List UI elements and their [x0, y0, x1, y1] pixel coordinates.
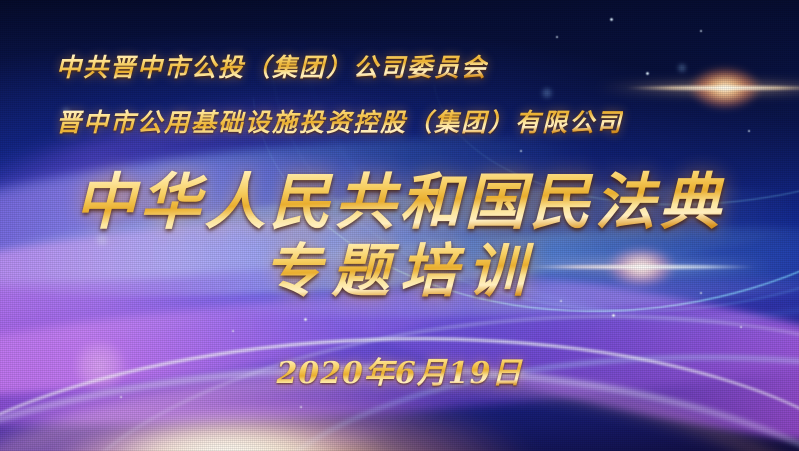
organization-line-1-text: 中共晋中市公投（集团）公司委员会: [56, 53, 488, 82]
sparkle: [740, 326, 742, 328]
flare-outer-streak: [595, 82, 799, 94]
amber-glow-core: [60, 408, 390, 451]
main-title-line-1: 中华人民共和国民法典: [0, 172, 799, 233]
organization-line-1: 中共晋中市公投（集团）公司委员会: [56, 48, 488, 84]
date-line: 2020年6月19日: [0, 348, 799, 392]
flare-streak: [625, 86, 799, 90]
sparkle: [520, 150, 522, 152]
sparkle: [612, 314, 615, 317]
sparkle: [646, 72, 649, 75]
sparkle: [300, 406, 302, 408]
organization-line-2-text: 晋中市公用基础设施投资控股（集团）有限公司: [56, 108, 623, 137]
sparkle: [120, 396, 122, 398]
main-title-line-2-text: 专题培训: [263, 237, 535, 305]
sparkle: [232, 330, 234, 332]
sparkle: [560, 300, 562, 302]
main-title-line-1-text: 中华人民共和国民法典: [74, 167, 724, 238]
bokeh-dot: [676, 62, 688, 74]
lens-flare-top-right: [640, 52, 799, 124]
main-title-line-2: 专题培训: [0, 242, 799, 300]
sparkle: [700, 30, 702, 32]
flare-halo: [682, 62, 768, 114]
sparkle: [610, 18, 613, 21]
organization-line-2: 晋中市公用基础设施投资控股（集团）有限公司: [56, 103, 623, 139]
blue-glow-bottom: [0, 392, 500, 451]
bokeh-dot: [540, 86, 554, 100]
presentation-title-slide: 中共晋中市公投（集团）公司委员会 晋中市公用基础设施投资控股（集团）有限公司 中…: [0, 0, 799, 451]
sparkle: [748, 130, 750, 132]
sparkle: [556, 36, 558, 38]
date-text: 2020年6月19日: [276, 356, 522, 391]
sparkle: [304, 318, 307, 321]
